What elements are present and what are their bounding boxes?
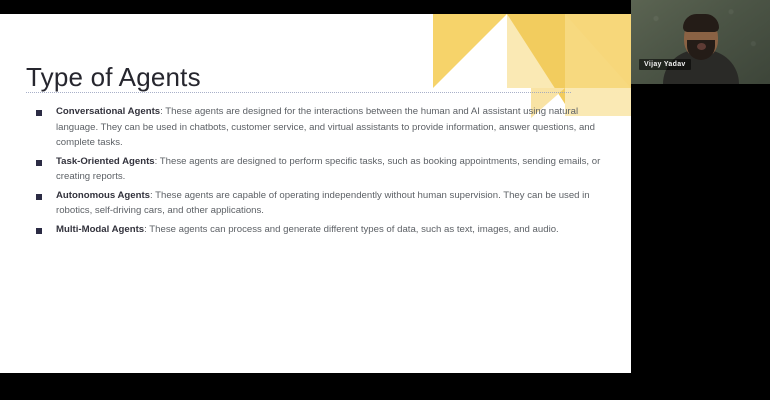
bullet-body-text: : These agents can process and generate … <box>144 224 559 235</box>
list-item: Multi-Modal Agents: These agents can pro… <box>26 222 611 238</box>
participant-hair <box>683 14 719 32</box>
participant-video-panel[interactable]: Vijay Yadav <box>631 0 770 400</box>
bullet-text: Autonomous Agents: These agents are capa… <box>56 188 611 219</box>
decoration-block-yellow <box>565 14 631 88</box>
slide-bullet-list: Conversational Agents: These agents are … <box>26 104 611 240</box>
bullet-text: Conversational Agents: These agents are … <box>56 104 611 151</box>
decoration-triangle-left <box>433 14 507 88</box>
list-item: Task-Oriented Agents: These agents are d… <box>26 154 611 185</box>
bullet-square-icon <box>36 160 42 166</box>
list-item: Autonomous Agents: These agents are capa… <box>26 188 611 219</box>
bullet-text: Multi-Modal Agents: These agents can pro… <box>56 222 611 238</box>
bullet-lead-label: Autonomous Agents <box>56 190 150 201</box>
decoration-block-pale <box>507 14 565 88</box>
decoration-triangle-right <box>565 14 631 88</box>
decoration-triangle-center <box>507 14 565 104</box>
bullet-lead-label: Conversational Agents <box>56 106 160 117</box>
list-item: Conversational Agents: These agents are … <box>26 104 611 151</box>
participant-name-badge: Vijay Yadav <box>639 59 691 70</box>
slide-title: Type of Agents <box>26 62 201 93</box>
bullet-square-icon <box>36 228 42 234</box>
bullet-text: Task-Oriented Agents: These agents are d… <box>56 154 611 185</box>
title-divider <box>26 92 571 94</box>
participant-video-feed[interactable]: Vijay Yadav <box>631 0 770 84</box>
bullet-lead-label: Task-Oriented Agents <box>56 156 155 167</box>
meeting-screen-share-window: Type of Agents Conversational Agents: Th… <box>0 0 770 400</box>
bullet-square-icon <box>36 110 42 116</box>
bullet-square-icon <box>36 194 42 200</box>
presentation-slide[interactable]: Type of Agents Conversational Agents: Th… <box>0 14 631 373</box>
bullet-lead-label: Multi-Modal Agents <box>56 224 144 235</box>
participant-mouth <box>697 43 706 50</box>
